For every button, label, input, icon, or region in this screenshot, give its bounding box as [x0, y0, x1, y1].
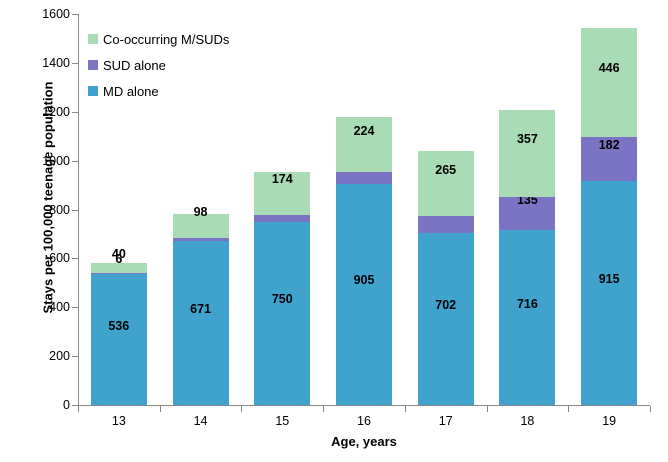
bar-value-label: 357 — [499, 132, 555, 146]
y-axis-tick-mark — [72, 14, 78, 15]
y-axis-tick-mark — [72, 258, 78, 259]
bar-segment[interactable] — [336, 172, 392, 184]
bar-segment[interactable] — [254, 215, 310, 222]
legend-label: Co-occurring M/SUDs — [103, 32, 229, 47]
legend-item[interactable]: Co-occurring M/SUDs — [88, 26, 229, 52]
y-axis-tick-labels: 02004006008001000120014001600 — [0, 0, 70, 462]
bar-value-label: 915 — [581, 272, 637, 286]
bar-group[interactable]: 90548224 — [336, 117, 392, 405]
bar-segment[interactable] — [499, 230, 555, 405]
x-axis-tick-label: 15 — [242, 414, 322, 428]
x-axis-tick-mark — [568, 406, 569, 412]
y-axis-tick-label: 400 — [8, 300, 70, 314]
bar-value-label: 224 — [336, 124, 392, 138]
legend-label: MD alone — [103, 84, 159, 99]
bar-value-label: 174 — [254, 172, 310, 186]
x-axis-tick-mark — [650, 406, 651, 412]
bar-segment[interactable] — [91, 273, 147, 274]
bar-group[interactable]: 6711398 — [173, 214, 229, 405]
x-axis-tick-label: 13 — [79, 414, 159, 428]
y-axis-tick-mark — [72, 210, 78, 211]
bar-group[interactable]: 536640 — [91, 263, 147, 405]
y-axis-tick-label: 600 — [8, 251, 70, 265]
legend-item[interactable]: MD alone — [88, 78, 229, 104]
x-axis-tick-label: 16 — [324, 414, 404, 428]
y-axis-tick-mark — [72, 356, 78, 357]
bar-segment[interactable] — [336, 184, 392, 405]
legend-item[interactable]: SUD alone — [88, 52, 229, 78]
bar-group[interactable]: 716135357 — [499, 110, 555, 405]
bar-segment[interactable] — [418, 233, 474, 405]
bar-group[interactable]: 70271265 — [418, 151, 474, 405]
y-axis-tick-label: 1400 — [8, 56, 70, 70]
bar-segment[interactable] — [173, 241, 229, 405]
x-axis-tick-mark — [160, 406, 161, 412]
x-axis-tick-label: 18 — [487, 414, 567, 428]
y-axis-tick-mark — [72, 161, 78, 162]
legend-label: SUD alone — [103, 58, 166, 73]
x-axis-line — [78, 405, 650, 406]
y-axis-tick-mark — [72, 112, 78, 113]
x-axis-tick-mark — [405, 406, 406, 412]
bar-segment[interactable] — [173, 238, 229, 241]
bar-value-label: 905 — [336, 273, 392, 287]
bar-value-label: 750 — [254, 292, 310, 306]
bar-segment[interactable] — [91, 263, 147, 273]
bar-value-label: 265 — [418, 163, 474, 177]
bar-segment[interactable] — [499, 110, 555, 197]
x-axis-tick-label: 14 — [161, 414, 241, 428]
x-axis-tick-label: 17 — [406, 414, 486, 428]
stacked-bar-chart: Stays per 100,000 teenage population 020… — [0, 0, 668, 462]
bar-value-label: 536 — [91, 319, 147, 333]
y-axis-tick-mark — [72, 63, 78, 64]
legend-swatch-icon — [88, 34, 98, 44]
x-axis-title: Age, years — [78, 434, 650, 449]
y-axis-tick-label: 200 — [8, 349, 70, 363]
y-axis-tick-label: 800 — [8, 203, 70, 217]
x-axis-tick-mark — [241, 406, 242, 412]
bar-segment[interactable] — [581, 181, 637, 405]
y-axis-tick-label: 1000 — [8, 154, 70, 168]
bar-segment[interactable] — [581, 28, 637, 137]
bar-value-label: 446 — [581, 61, 637, 75]
bar-group[interactable]: 915182446 — [581, 28, 637, 405]
bar-value-label: 702 — [418, 298, 474, 312]
bar-value-label: 98 — [173, 205, 229, 219]
x-axis-tick-mark — [78, 406, 79, 412]
bar-segment[interactable] — [418, 151, 474, 216]
bar-value-label: 671 — [173, 302, 229, 316]
bar-segment[interactable] — [418, 216, 474, 233]
x-axis-tick-mark — [323, 406, 324, 412]
bar-segment[interactable] — [254, 222, 310, 405]
bar-segment[interactable] — [91, 274, 147, 405]
x-axis-tick-mark — [487, 406, 488, 412]
bar-group[interactable]: 75029174 — [254, 172, 310, 405]
x-axis-tick-label: 19 — [569, 414, 649, 428]
y-axis-tick-label: 0 — [8, 398, 70, 412]
bar-value-label: 40 — [91, 247, 147, 261]
y-axis-tick-label: 1200 — [8, 105, 70, 119]
y-axis-tick-label: 1600 — [8, 7, 70, 21]
bar-value-label: 716 — [499, 297, 555, 311]
bar-value-label: 182 — [581, 138, 637, 152]
legend-swatch-icon — [88, 86, 98, 96]
legend-swatch-icon — [88, 60, 98, 70]
y-axis-tick-mark — [72, 307, 78, 308]
chart-legend: Co-occurring M/SUDsSUD aloneMD alone — [88, 26, 229, 104]
